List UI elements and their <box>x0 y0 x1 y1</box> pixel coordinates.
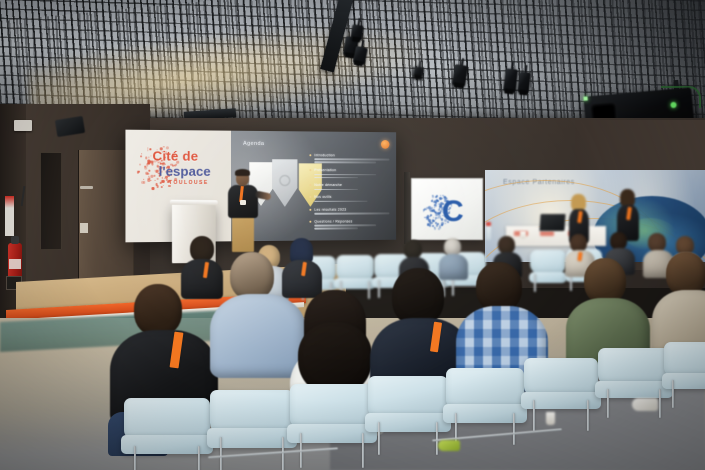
agenda-item-detail-line <box>314 159 389 161</box>
agenda-item-heading: Questions / Réponses <box>314 219 389 223</box>
agenda-item-heading: Nos outils <box>314 195 389 199</box>
chair-front-8[interactable] <box>664 342 705 402</box>
presenter-badge <box>240 200 246 205</box>
chair-front-1[interactable] <box>124 398 210 470</box>
agenda-item: Notre démarche <box>314 183 389 190</box>
venue-logo-line1: Cité de <box>152 148 198 163</box>
c-logo-letter: C <box>442 197 464 227</box>
c-logo-board: C <box>411 178 483 240</box>
agenda-item-detail-line <box>314 174 376 176</box>
shield-emblem <box>279 175 290 186</box>
chair-front-4[interactable] <box>368 376 448 448</box>
venue-logo: Cité de l'espace TOULOUSE <box>136 140 228 203</box>
presenter-trousers <box>232 216 254 252</box>
agenda-item: Nos outils <box>314 195 389 202</box>
agenda-item: Les résultats 2023 <box>314 207 389 214</box>
agenda-item-heading: Introduction <box>314 153 389 157</box>
chair-back-6[interactable] <box>530 250 566 292</box>
agenda-item-heading: Les résultats 2023 <box>314 207 389 211</box>
slide-title: Agenda <box>243 141 264 147</box>
shield-grey <box>272 159 298 207</box>
agenda-item-detail-line <box>314 228 358 230</box>
paper-cup <box>520 231 526 239</box>
agenda-item-detail-line <box>314 177 358 179</box>
agenda-item: Présentation <box>314 168 389 178</box>
agenda-item: Introduction <box>314 153 389 163</box>
projector-power-led <box>583 96 587 100</box>
venue-logo-line2: l'espace <box>159 164 211 179</box>
banner-mark-2 <box>540 231 554 236</box>
water-bottle <box>486 225 491 240</box>
agenda-bullet-dot <box>309 221 311 223</box>
bottle-cap <box>486 222 491 226</box>
extinguisher-label <box>9 259 21 269</box>
door-lock-plate <box>80 223 88 233</box>
board-left-frame <box>404 172 410 244</box>
agenda-item-detail-line <box>314 162 376 164</box>
door-handle[interactable] <box>80 186 93 189</box>
agenda-bullet-dot <box>309 208 311 210</box>
projected-slide: Agenda IntroductionPrésentationNotre dém… <box>231 131 396 242</box>
laptop[interactable] <box>539 214 565 231</box>
agenda-item-detail-line <box>314 224 376 226</box>
agenda-item-detail-line <box>314 212 389 214</box>
floor-sneaker <box>632 398 658 411</box>
agenda-item-detail-line <box>314 201 367 203</box>
fire-extinguisher-sign <box>5 196 14 236</box>
agenda-item-heading: Notre démarche <box>314 183 389 187</box>
slide-agenda-list: IntroductionPrésentationNotre démarcheNo… <box>314 153 389 234</box>
venue-logo-subtitle: TOULOUSE <box>169 180 209 186</box>
wall-control-box <box>14 120 32 131</box>
agenda-item: Questions / Réponses <box>314 219 389 229</box>
agenda-bullet-dot <box>309 154 311 156</box>
projection-screen: Cité de l'espace TOULOUSE Agenda Introdu… <box>125 130 396 243</box>
agenda-item-detail-line <box>314 189 358 191</box>
agenda-item-heading: Présentation <box>314 168 389 172</box>
lectern-top <box>170 200 218 206</box>
chair-front-5[interactable] <box>446 368 524 438</box>
floor-cup <box>546 412 555 425</box>
projector-status-led <box>670 102 677 109</box>
chair-front-6[interactable] <box>524 358 598 424</box>
auditorium-photo: Cité de l'espace TOULOUSE Agenda Introdu… <box>0 0 705 470</box>
floor-shoe <box>438 440 460 451</box>
wall-access-panel <box>40 152 62 250</box>
slide-logo-badge <box>381 140 390 149</box>
presenter-hair <box>235 169 250 176</box>
